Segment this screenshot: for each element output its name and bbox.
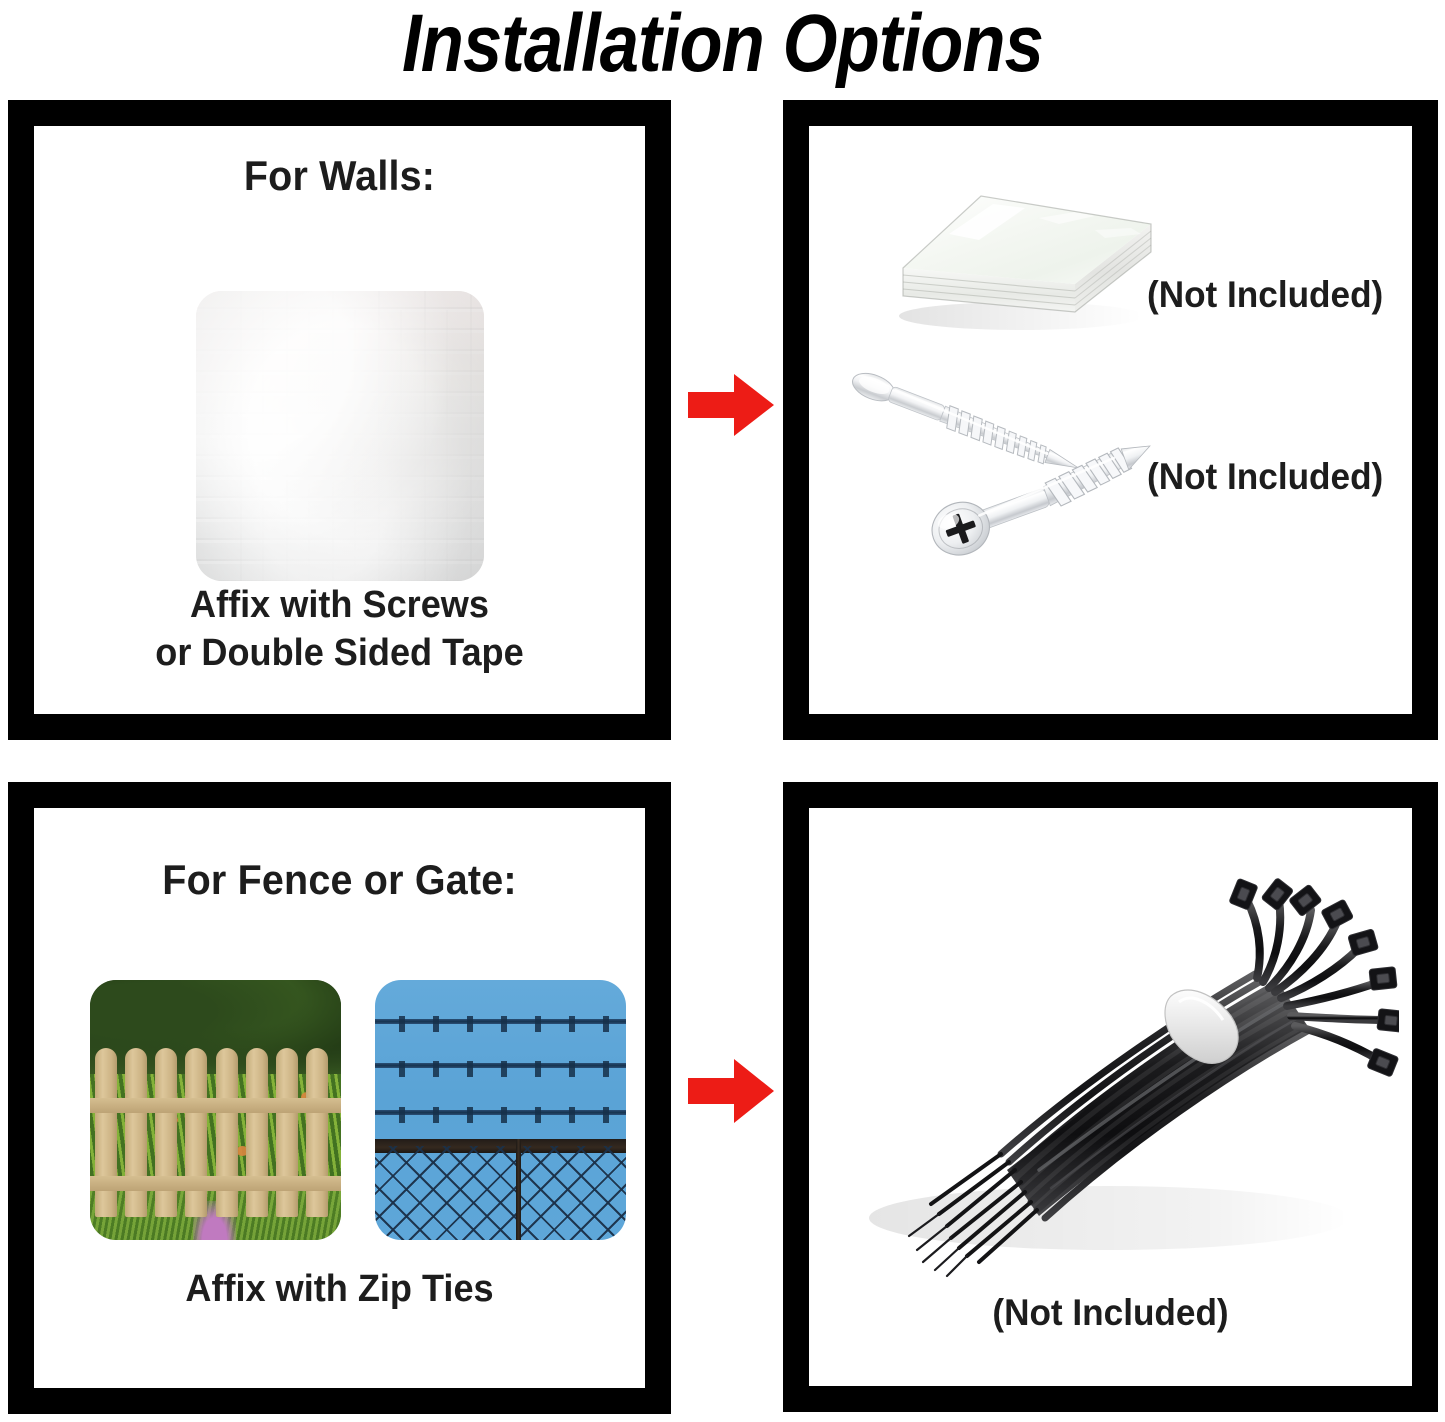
for-walls-caption-line2: or Double Sided Tape: [49, 629, 629, 678]
fence-pickets: [90, 1048, 341, 1217]
white-brick-wall-image: [196, 291, 484, 581]
double-sided-tape-image: [889, 156, 1169, 336]
panel-for-fence-body: For Fence or Gate:: [34, 808, 645, 1388]
panel-fence-hardware-body: (Not Included): [809, 808, 1412, 1386]
panel-fence-hardware: (Not Included): [783, 782, 1438, 1412]
panel-for-fence-or-gate: For Fence or Gate:: [8, 782, 671, 1414]
for-walls-caption: Affix with Screws or Double Sided Tape: [49, 581, 629, 678]
fence-rail-lower: [90, 1176, 341, 1191]
red-right-arrow-icon: [688, 372, 774, 438]
red-right-arrow-icon-bottom: [688, 1056, 774, 1126]
zip-ties-not-included-label: (Not Included): [824, 1292, 1397, 1334]
for-fence-heading: For Fence or Gate:: [52, 856, 626, 904]
panel-for-walls: For Walls: Affix with Screws or Double S…: [8, 100, 671, 740]
screw-not-included-label: (Not Included): [1147, 456, 1383, 498]
barb-spikes-1: [375, 1016, 626, 1032]
black-zip-ties-image: [839, 870, 1399, 1290]
barb-spikes-3: [375, 1107, 626, 1123]
chain-link-mesh: [375, 1146, 626, 1240]
panel-for-walls-body: For Walls: Affix with Screws or Double S…: [34, 126, 645, 714]
barb-spikes-2: [375, 1061, 626, 1077]
wall-vignette: [196, 291, 484, 581]
fence-rail-upper: [90, 1098, 341, 1113]
tape-not-included-label: (Not Included): [1147, 274, 1383, 316]
for-fence-caption: Affix with Zip Ties: [49, 1265, 629, 1314]
for-walls-heading: For Walls:: [52, 152, 626, 200]
panel-wall-hardware-body: (Not Included): [809, 126, 1412, 714]
chain-link-fence-image: [375, 980, 626, 1240]
wooden-picket-fence-image: [90, 980, 341, 1240]
silver-screw-lower-image: [917, 440, 1167, 562]
for-walls-caption-line1: Affix with Screws: [49, 581, 629, 630]
panel-wall-hardware: (Not Included): [783, 100, 1438, 740]
page-title: Installation Options: [101, 0, 1344, 92]
fence-post: [516, 1139, 521, 1240]
